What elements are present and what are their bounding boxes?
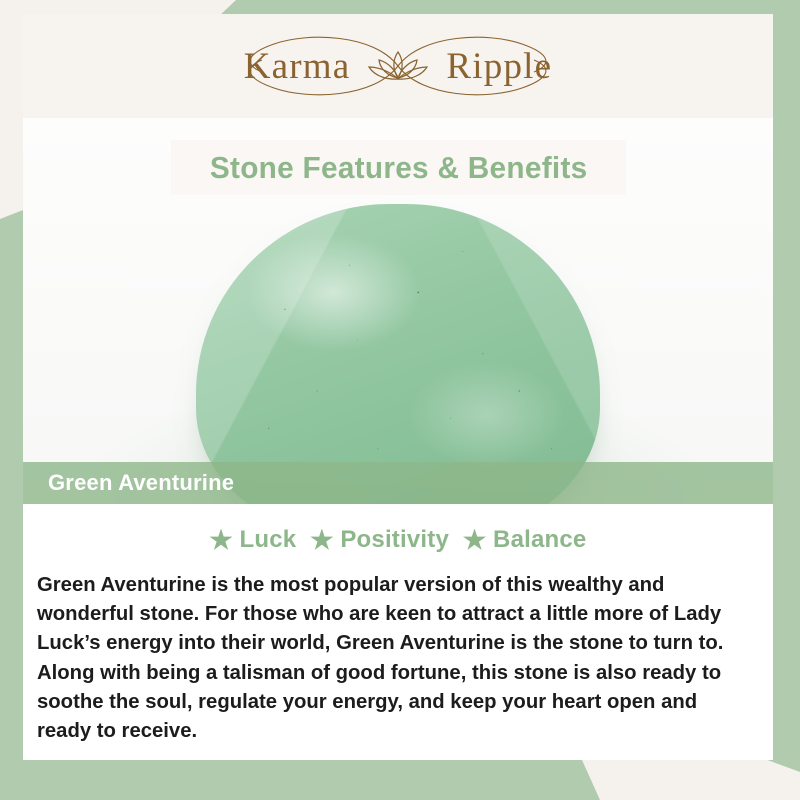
keyword-label-luck: Luck xyxy=(240,526,297,554)
brand-word-karma: Karma xyxy=(244,48,351,85)
star-icon xyxy=(310,529,333,552)
brand-header: Karma Ripple xyxy=(23,14,773,118)
brand-word-ripple: Ripple xyxy=(446,48,552,85)
star-icon xyxy=(463,529,486,552)
hero-image-section: Stone Features & Benefits Green Aventuri… xyxy=(23,118,773,504)
product-infographic-poster: Karma Ripple Stone Features & Benefits G… xyxy=(0,0,800,800)
stone-name-bar: Green Aventurine xyxy=(23,462,773,504)
keyword-label-balance: Balance xyxy=(493,526,586,554)
brand-logo: Karma Ripple xyxy=(188,26,608,106)
keyword-item-balance: Balance xyxy=(463,526,586,554)
page-title: Stone Features & Benefits xyxy=(210,150,588,186)
frame-bottom-band xyxy=(0,760,800,800)
poster-card: Karma Ripple Stone Features & Benefits G… xyxy=(23,14,773,760)
content-section: Luck Positivity Balance Green Aventurine… xyxy=(23,504,773,760)
stone-name-label: Green Aventurine xyxy=(48,470,234,496)
keyword-label-positivity: Positivity xyxy=(340,526,449,554)
keyword-item-positivity: Positivity xyxy=(310,526,449,554)
stone-description: Green Aventurine is the most popular ver… xyxy=(37,570,748,745)
section-title-banner: Stone Features & Benefits xyxy=(171,140,626,195)
keyword-list: Luck Positivity Balance xyxy=(23,526,773,554)
keyword-item-luck: Luck xyxy=(210,526,297,554)
star-icon xyxy=(210,529,233,552)
green-aventurine-stone-image xyxy=(196,204,600,504)
